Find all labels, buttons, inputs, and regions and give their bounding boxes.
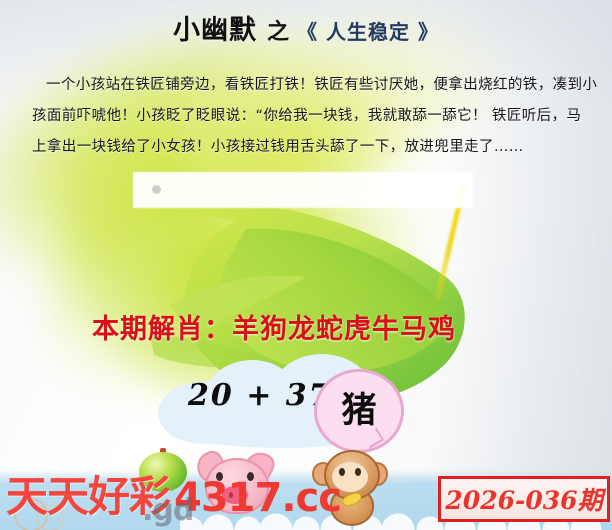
answer-text: 猪 (341, 394, 376, 429)
page-title: 小幽默 之 《 人生稳定 》 (0, 8, 612, 47)
poster-root: 小幽默 之 《 人生稳定 》 一个小孩站在铁匠铺旁边，看铁匠打铁！铁匠有些讨厌她… (0, 0, 612, 530)
censored-blank-area (133, 172, 473, 208)
title-connector: 之 (265, 14, 289, 46)
issue-number-text: 2026-036期 (445, 481, 602, 517)
title-main: 小幽默 (173, 8, 257, 47)
story-line-1: 一个小孩站在铁匠铺旁边，看铁匠打铁！铁匠有些讨厌她，便拿出烧红的铁，凑到小 (32, 70, 584, 101)
answer-speech-bubble: 猪 (314, 369, 404, 453)
title-subtitle: 《 人生稳定 》 (297, 16, 439, 45)
story-paragraph: 一个小孩站在铁匠铺旁边，看铁匠打铁！铁匠有些讨厌她，便拿出烧红的铁，凑到小 孩面… (32, 70, 584, 163)
watermark-text: .gd (142, 493, 193, 528)
story-line-3: 上拿出一块钱给了小女孩！小孩接过钱用舌头舔了一下，放进兜里走了…… (32, 132, 584, 163)
story-line-2: 孩面前吓唬他！小孩眨了眨眼说：“你给我一块钱，我就敢舔一舔它！ 铁匠听后，马 (32, 101, 584, 132)
brand-domain: 4317.cc (174, 475, 341, 521)
issue-number-box: 2026-036期 (438, 476, 610, 522)
faint-icon (152, 185, 161, 194)
zodiac-tip-line: 本期解肖：羊狗龙蛇虎牛马鸡 (92, 307, 456, 346)
